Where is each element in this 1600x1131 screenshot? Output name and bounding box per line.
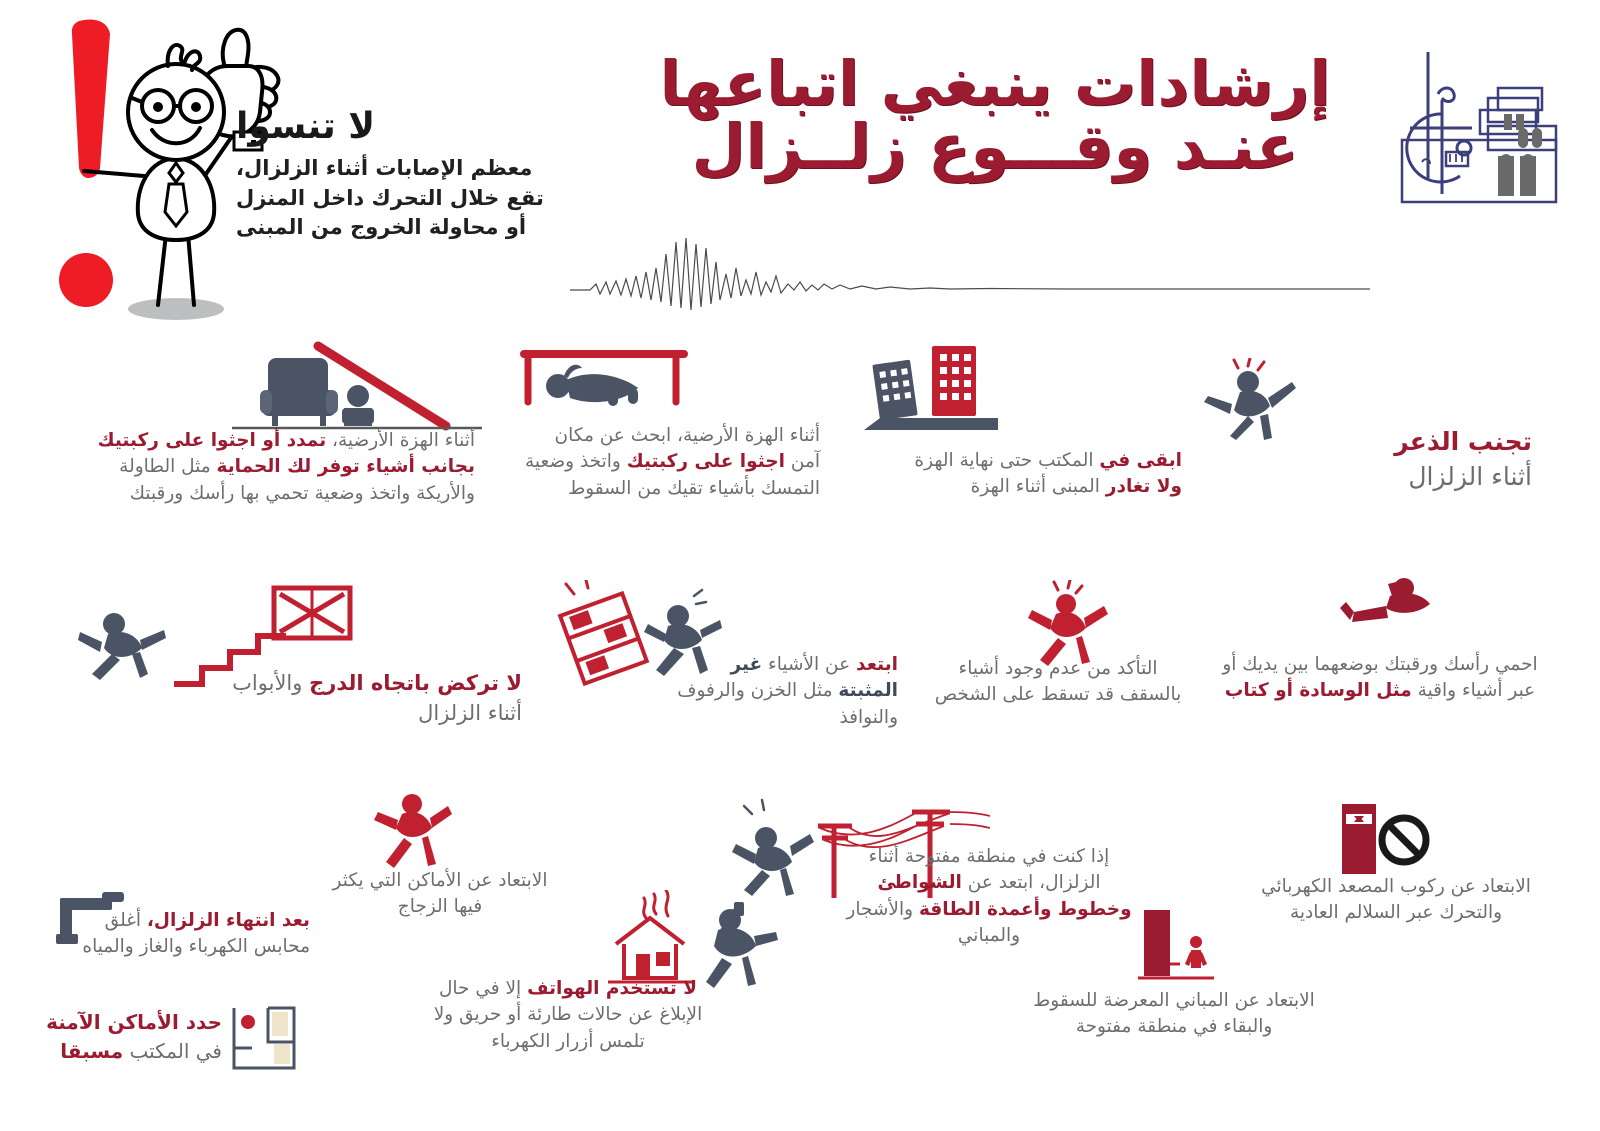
- running-person-red-icon: [368, 788, 458, 878]
- tip-open-area: إذا كنت في منطقة مفتوحة أثناء الزلزال، ا…: [844, 844, 1134, 950]
- tip-drop-and-hold: أثناء الهزة الأرضية، ابحث عن مكان آمن اج…: [520, 423, 820, 502]
- tip-open-area-caption: إذا كنت في منطقة مفتوحة أثناء الزلزال، ا…: [844, 844, 1134, 950]
- floor-plan-safe-spot-icon: [228, 1002, 300, 1074]
- person-crouching-covering-head-icon: [1338, 572, 1448, 652]
- tip-avoid-unsecured: ابتعد عن الأشياء غير المثبتة مثل الخزن و…: [676, 652, 898, 731]
- tip-no-phones-caption: لا تستخدم الهواتف إلا في حال الإبلاغ عن …: [418, 976, 718, 1055]
- dont-forget-block: لا تنسوا معظم الإصابات أثناء الزلزال، تق…: [236, 108, 556, 243]
- tip-mark-safe-places-caption: حدد الأماكن الآمنة في المكتب مسبقا: [46, 1008, 222, 1065]
- institution-logo-icon: [1380, 48, 1580, 223]
- tip-mark-safe-places: حدد الأماكن الآمنة في المكتب مسبقا: [46, 1008, 222, 1065]
- tip-avoid-unsecured-caption: ابتعد عن الأشياء غير المثبتة مثل الخزن و…: [676, 652, 898, 731]
- tip-avoid-panic-caption: تجنب الذعرأثناء الزلزال: [1232, 424, 1532, 494]
- dont-forget-body: معظم الإصابات أثناء الزلزال، تقع خلال ال…: [236, 154, 556, 243]
- page-title: إرشادات ينبغي اتباعها عنـد وقـــوع زلــز…: [600, 52, 1390, 178]
- seismograph-waveform-icon: [570, 232, 1370, 312]
- tip-avoid-glass: الابتعاد عن الأماكن التي يكثر فيها الزجا…: [316, 868, 564, 921]
- tip-no-phones: لا تستخدم الهواتف إلا في حال الإبلاغ عن …: [418, 976, 718, 1055]
- tip-drop-and-hold-caption: أثناء الهزة الأرضية، ابحث عن مكان آمن اج…: [520, 423, 820, 502]
- tip-away-from-buildings: الابتعاد عن المباني المعرضة للسقوط والبق…: [1028, 988, 1320, 1041]
- dont-forget-heading: لا تنسوا: [236, 108, 556, 146]
- tip-avoid-panic: تجنب الذعرأثناء الزلزال: [1232, 424, 1532, 494]
- tip-stay-in-office-caption: ابقى في المكتب حتى نهاية الهزة ولا تغادر…: [900, 448, 1182, 501]
- tip-avoid-glass-caption: الابتعاد عن الأماكن التي يكثر فيها الزجا…: [316, 868, 564, 921]
- infographic-canvas: لا تنسوا معظم الإصابات أثناء الزلزال، تق…: [0, 0, 1600, 1131]
- tip-protect-head: احمي رأسك ورقبتك بوضعهما بين يديك أو عبر…: [1216, 652, 1544, 705]
- tip-check-ceiling: التأكد من عدم وجود أشياء بالسقف قد تسقط …: [932, 656, 1184, 709]
- tip-take-cover: أثناء الهزة الأرضية، تمدد أو اجثوا على ر…: [70, 428, 475, 507]
- two-buildings-on-platform-icon: [862, 336, 1032, 436]
- tip-no-elevator-caption: الابتعاد عن ركوب المصعد الكهربائي والتحر…: [1236, 874, 1556, 927]
- page-title-line-1: إرشادات ينبغي اتباعها: [600, 52, 1390, 115]
- tip-stay-in-office: ابقى في المكتب حتى نهاية الهزة ولا تغادر…: [900, 448, 1182, 501]
- page-title-line-2: عنـد وقـــوع زلــزال: [600, 115, 1390, 178]
- tip-protect-head-caption: احمي رأسك ورقبتك بوضعهما بين يديك أو عبر…: [1216, 652, 1544, 705]
- tip-take-cover-caption: أثناء الهزة الأرضية، تمدد أو اجثوا على ر…: [70, 428, 475, 507]
- building-and-person-open-area-icon: [1136, 908, 1216, 986]
- tip-no-elevator: الابتعاد عن ركوب المصعد الكهربائي والتحر…: [1236, 874, 1556, 927]
- armchair-person-crouching-fallen-beam-icon: [232, 332, 482, 442]
- tip-shut-utilities-caption: بعد انتهاء الزلزال، أغلق محابس الكهرباء …: [48, 908, 310, 961]
- tip-check-ceiling-caption: التأكد من عدم وجود أشياء بالسقف قد تسقط …: [932, 656, 1184, 709]
- tip-no-stairs-caption: لا تركض باتجاه الدرج والأبواب أثناء الزل…: [230, 668, 522, 728]
- person-under-table-holding-on-icon: [516, 340, 696, 420]
- elevator-prohibited-icon: [1328, 800, 1438, 880]
- tip-away-from-buildings-caption: الابتعاد عن المباني المعرضة للسقوط والبق…: [1028, 988, 1320, 1041]
- tip-no-stairs: لا تركض باتجاه الدرج والأبواب أثناء الزل…: [230, 668, 522, 728]
- tip-shut-utilities: بعد انتهاء الزلزال، أغلق محابس الكهرباء …: [48, 908, 310, 961]
